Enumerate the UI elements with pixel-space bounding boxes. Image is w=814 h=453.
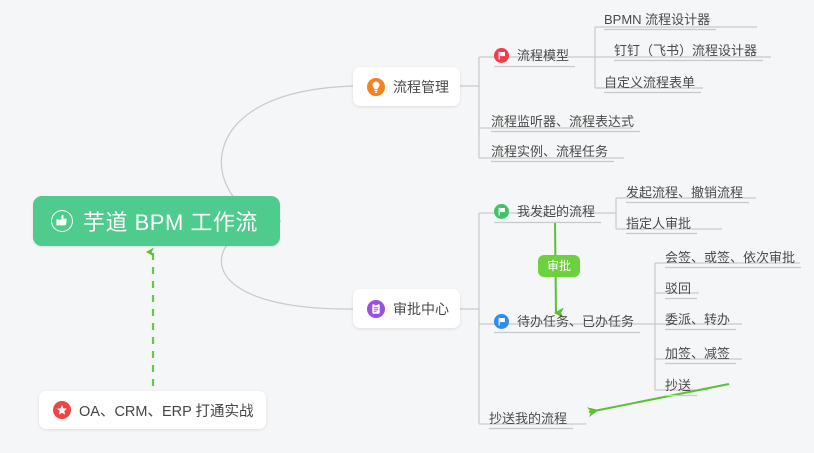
leaf-label: 流程监听器、流程表达式 (491, 115, 634, 128)
root-label: 芋道 BPM 工作流 (83, 205, 258, 237)
lightbulb-icon (367, 78, 385, 96)
flag-icon (494, 48, 509, 63)
leaf-custom-form[interactable]: 自定义流程表单 (604, 76, 695, 92)
annotation-tag-approve: 审批 (538, 255, 580, 277)
annotation-label: 审批 (547, 259, 571, 273)
leaf-label: 驳回 (665, 282, 691, 295)
flag-icon (494, 314, 509, 329)
leaf-label: 自定义流程表单 (604, 76, 695, 89)
leaf-cc[interactable]: 抄送 (665, 379, 691, 395)
flag-icon (494, 204, 509, 219)
leaf-label: 抄送我的流程 (489, 412, 567, 425)
bottom-note-label: OA、CRM、ERP 打通实战 (79, 400, 254, 421)
leaf-label: 抄送 (665, 379, 691, 392)
mindmap-canvas: 芋道 BPM 工作流 流程管理 流程模型 BPMN 流程设计器 钉钉（飞书）流程… (0, 0, 814, 453)
branch-node-approval-center[interactable]: 审批中心 (353, 289, 460, 328)
leaf-label: 指定人审批 (626, 217, 691, 230)
node-label-process-model: 流程模型 (517, 49, 569, 62)
leaf-label: 流程实例、流程任务 (491, 145, 608, 158)
leaf-start-cancel-process[interactable]: 发起流程、撤销流程 (626, 186, 743, 202)
leaf-assignee-approval[interactable]: 指定人审批 (626, 217, 691, 233)
leaf-process-listener[interactable]: 流程监听器、流程表达式 (491, 115, 634, 131)
node-my-started-process[interactable]: 我发起的流程 (494, 204, 595, 222)
leaf-delegate-transfer[interactable]: 委派、转办 (665, 313, 730, 329)
node-label-my-started-process: 我发起的流程 (517, 205, 595, 218)
star-icon (53, 401, 71, 419)
thumbs-up-icon (50, 209, 74, 233)
node-process-model[interactable]: 流程模型 (494, 48, 569, 66)
leaf-label: 钉钉（飞书）流程设计器 (614, 44, 757, 57)
leaf-bpmn-designer[interactable]: BPMN 流程设计器 (604, 13, 710, 29)
leaf-dingtalk-designer[interactable]: 钉钉（飞书）流程设计器 (614, 44, 757, 60)
clipboard-icon (367, 300, 385, 318)
leaf-reject[interactable]: 驳回 (665, 282, 691, 298)
bottom-note-card[interactable]: OA、CRM、ERP 打通实战 (39, 391, 266, 429)
leaf-cc-to-me[interactable]: 抄送我的流程 (489, 412, 567, 428)
root-node[interactable]: 芋道 BPM 工作流 (33, 196, 280, 246)
leaf-label: 加签、减签 (665, 347, 730, 360)
leaf-label: BPMN 流程设计器 (604, 13, 710, 26)
leaf-add-remove-sign[interactable]: 加签、减签 (665, 347, 730, 363)
branch-node-process-management[interactable]: 流程管理 (353, 67, 460, 106)
leaf-label: 发起流程、撤销流程 (626, 186, 743, 199)
branch-label-process-management: 流程管理 (393, 77, 449, 97)
node-todo-done-tasks[interactable]: 待办任务、已办任务 (494, 314, 634, 332)
leaf-label: 会签、或签、依次审批 (665, 251, 795, 264)
branch-label-approval-center: 审批中心 (393, 299, 449, 319)
leaf-countersign[interactable]: 会签、或签、依次审批 (665, 251, 795, 267)
leaf-process-instance[interactable]: 流程实例、流程任务 (491, 145, 608, 161)
leaf-label: 委派、转办 (665, 313, 730, 326)
node-label-todo-done-tasks: 待办任务、已办任务 (517, 315, 634, 328)
